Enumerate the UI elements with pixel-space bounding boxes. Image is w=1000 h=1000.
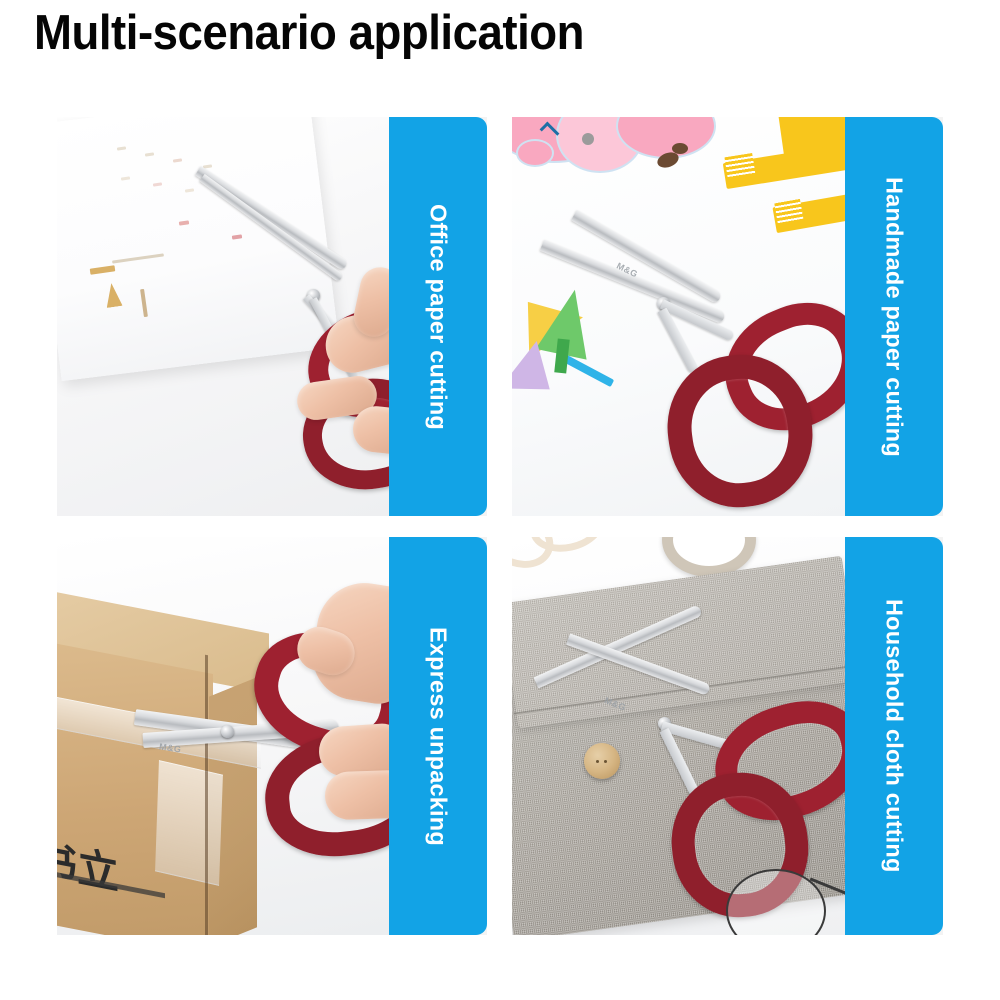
- wood-button: [584, 743, 620, 779]
- scenario-photo-handmade-paper-cutting: M&G: [512, 117, 845, 516]
- paper-cutout: [516, 139, 554, 167]
- caption-label: Handmade paper cutting: [881, 177, 908, 457]
- caption-band-express-unpacking: Express unpacking: [389, 537, 487, 935]
- scenario-panel-office-paper-cutting[interactable]: Office paper cutting: [57, 117, 487, 516]
- finger: [324, 770, 389, 821]
- packing-tape: [155, 760, 223, 886]
- caption-label: Express unpacking: [425, 627, 452, 846]
- scissors-pivot: [221, 725, 234, 738]
- scenario-photo-household-cloth-cutting: M&G: [512, 537, 845, 935]
- origami-fold: [554, 338, 569, 373]
- caption-band-household-cloth-cutting: Household cloth cutting: [845, 537, 943, 935]
- scenario-panel-grid: Office paper cutting: [57, 117, 943, 935]
- caption-band-office-paper-cutting: Office paper cutting: [389, 117, 487, 516]
- scenario-photo-office-paper-cutting: [57, 117, 389, 516]
- carton-seam: [205, 655, 208, 935]
- page-title: Multi-scenario application: [34, 8, 584, 59]
- scenario-panel-handmade-paper-cutting[interactable]: M&G Handmade paper cutting: [512, 117, 943, 516]
- caption-band-handmade-paper-cutting: Handmade paper cutting: [845, 117, 943, 516]
- fringe: [724, 153, 755, 179]
- caption-label: Household cloth cutting: [881, 599, 908, 873]
- scenario-panel-household-cloth-cutting[interactable]: M&G Household cloth cutting: [512, 537, 943, 935]
- cutout-hoof: [672, 143, 688, 154]
- fringe: [774, 199, 803, 225]
- scenario-panel-express-unpacking[interactable]: 书立 M&G Express unpacking: [57, 537, 487, 935]
- caption-label: Office paper cutting: [425, 204, 452, 430]
- scenario-photo-express-unpacking: 书立 M&G: [57, 537, 389, 935]
- cutout-eye: [582, 133, 594, 145]
